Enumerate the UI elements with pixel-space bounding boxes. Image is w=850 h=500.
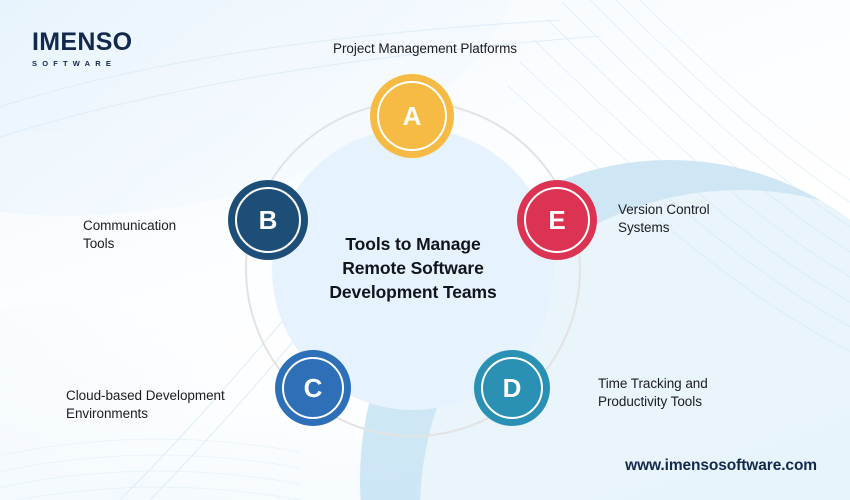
node-a[interactable]: A <box>370 74 454 158</box>
website-url[interactable]: www.imensosoftware.com <box>625 457 817 475</box>
label-node-d-line-2: Productivity Tools <box>598 393 778 411</box>
node-c[interactable]: C <box>275 350 351 426</box>
node-b[interactable]: B <box>228 180 308 260</box>
node-b-letter: B <box>259 207 278 233</box>
label-node-a-line-1: Project Management Platforms <box>310 40 540 58</box>
label-node-d-line-1: Time Tracking and <box>598 375 778 393</box>
label-node-b: Communication Tools <box>83 217 223 253</box>
node-d-letter: D <box>503 375 522 401</box>
label-node-c-line-1: Cloud-based Development <box>66 387 271 405</box>
center-title-line-2: Remote Software <box>300 256 526 280</box>
label-node-c-line-2: Environments <box>66 405 271 423</box>
infographic-canvas: IMENSO SOFTWARE Tools to Manage Remote S… <box>0 0 850 500</box>
node-d[interactable]: D <box>474 350 550 426</box>
node-e-letter: E <box>548 207 565 233</box>
diagram-center-title: Tools to Manage Remote Software Developm… <box>300 232 526 304</box>
node-e[interactable]: E <box>517 180 597 260</box>
node-c-letter: C <box>304 375 323 401</box>
label-node-e-line-1: Version Control <box>618 201 778 219</box>
node-a-letter: A <box>403 103 422 129</box>
label-node-e-line-2: Systems <box>618 219 778 237</box>
label-node-c: Cloud-based Development Environments <box>66 387 271 423</box>
label-node-d: Time Tracking and Productivity Tools <box>598 375 778 411</box>
label-node-a: Project Management Platforms <box>310 40 540 58</box>
label-node-b-line-1: Communication <box>83 217 223 235</box>
center-title-line-3: Development Teams <box>300 280 526 304</box>
label-node-e: Version Control Systems <box>618 201 778 237</box>
circle-diagram: Tools to Manage Remote Software Developm… <box>0 0 850 500</box>
center-title-line-1: Tools to Manage <box>300 232 526 256</box>
label-node-b-line-2: Tools <box>83 235 223 253</box>
